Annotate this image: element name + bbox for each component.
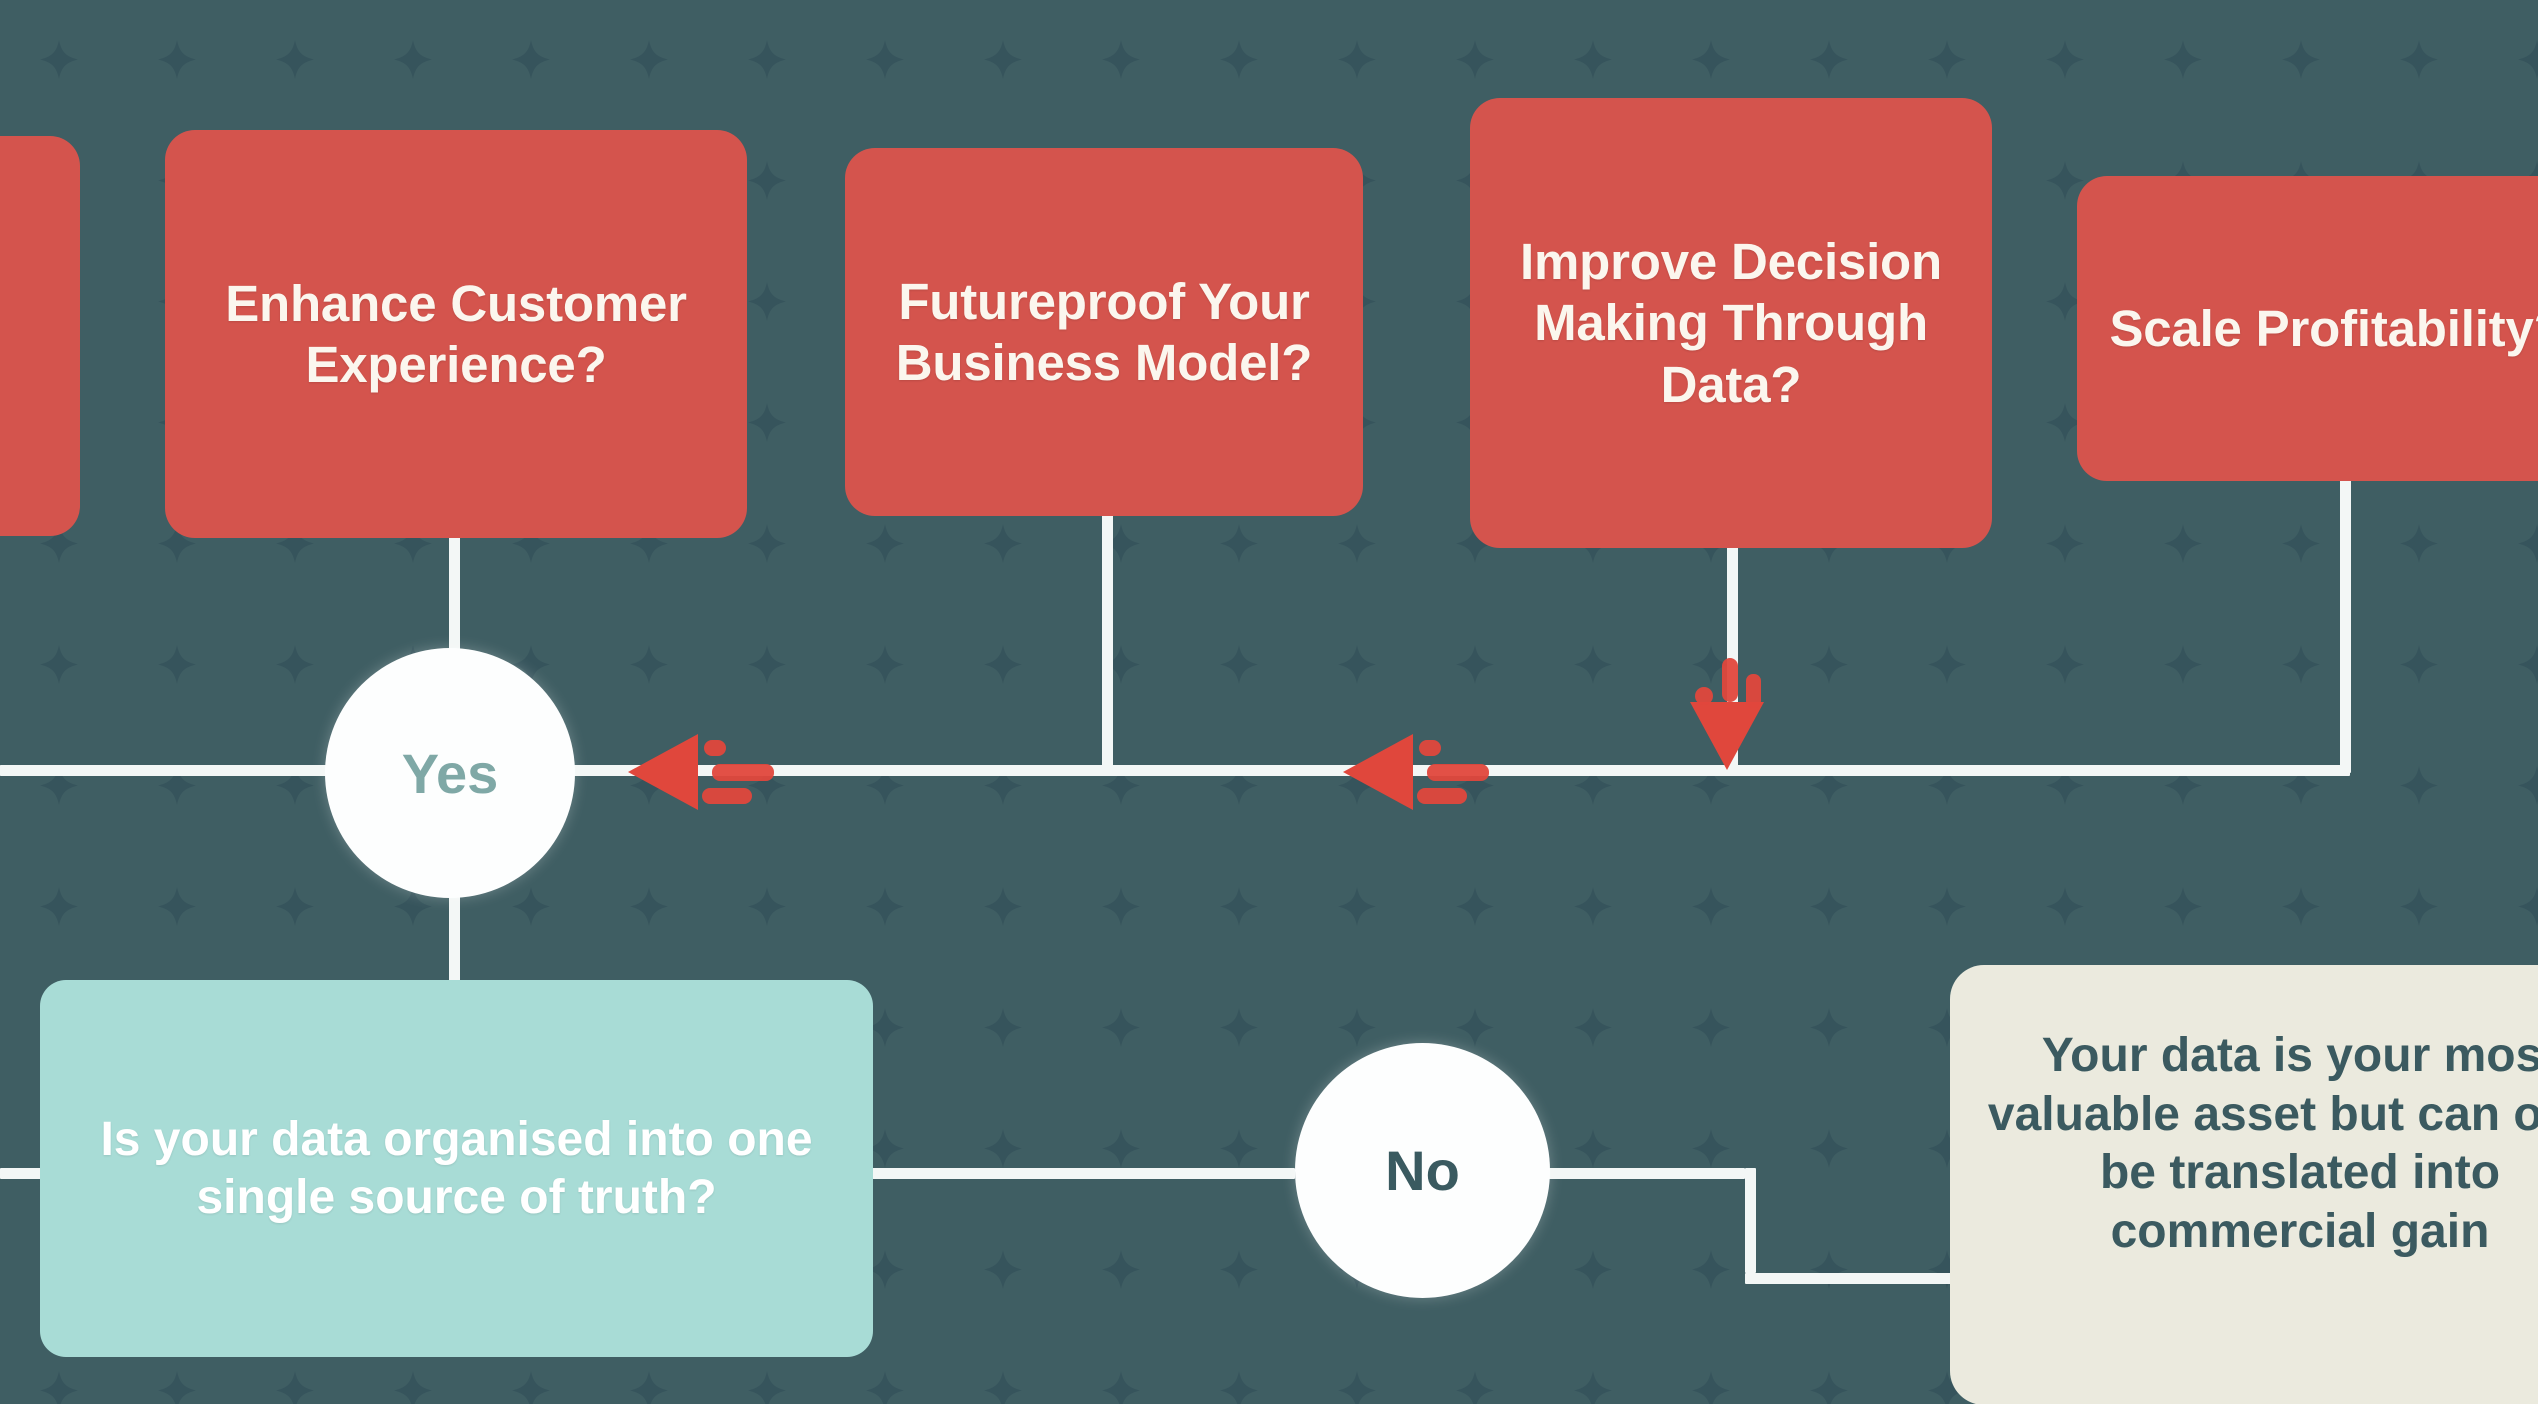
connector-improve-decision-to-trunk [1727, 545, 1738, 773]
card-improve-decision-label: Improve Decision Making Through Data? [1492, 231, 1970, 415]
card-data-asset[interactable]: Your data is your most valuable asset bu… [1950, 965, 2538, 1404]
card-single-source-label: Is your data organised into one single s… [66, 1111, 847, 1226]
card-enhance-customer[interactable]: Enhance Customer Experience? [165, 130, 747, 538]
card-single-source[interactable]: Is your data organised into one single s… [40, 980, 873, 1357]
decision-circle-yes-label: Yes [402, 741, 499, 806]
connector-single-source-to-no [860, 1168, 1295, 1179]
decision-circle-yes[interactable]: Yes [325, 648, 575, 898]
connector-enhance-to-yes [449, 535, 460, 655]
card-enhance-customer-label: Enhance Customer Experience? [187, 273, 725, 395]
connector-no-elbow-vertical [1745, 1168, 1756, 1273]
arrow-down-decision-data [1660, 630, 1790, 780]
flowchart-canvas: Enhance Customer Experience? Futureproof… [0, 0, 2538, 1404]
card-futureproof[interactable]: Futureproof Your Business Model? [845, 148, 1363, 516]
connector-left-edge-stub [0, 765, 210, 776]
card-data-asset-label: Your data is your most valuable asset bu… [1976, 1027, 2538, 1261]
card-scale-profitability[interactable]: Scale Profitability? [2077, 176, 2538, 481]
decision-circle-no[interactable]: No [1295, 1043, 1550, 1298]
connector-scale-profitability-drop [2340, 478, 2351, 773]
connector-elbow-to-data-asset [1745, 1273, 1955, 1284]
connector-futureproof-to-trunk [1102, 510, 1113, 772]
card-improve-decision[interactable]: Improve Decision Making Through Data? [1470, 98, 1992, 548]
card-futureproof-label: Futureproof Your Business Model? [867, 271, 1341, 393]
decision-circle-no-label: No [1385, 1138, 1460, 1203]
connector-no-to-elbow-horizontal [1548, 1168, 1745, 1179]
card-partial-left[interactable] [0, 136, 80, 536]
card-scale-profitability-label: Scale Profitability? [2109, 298, 2538, 359]
